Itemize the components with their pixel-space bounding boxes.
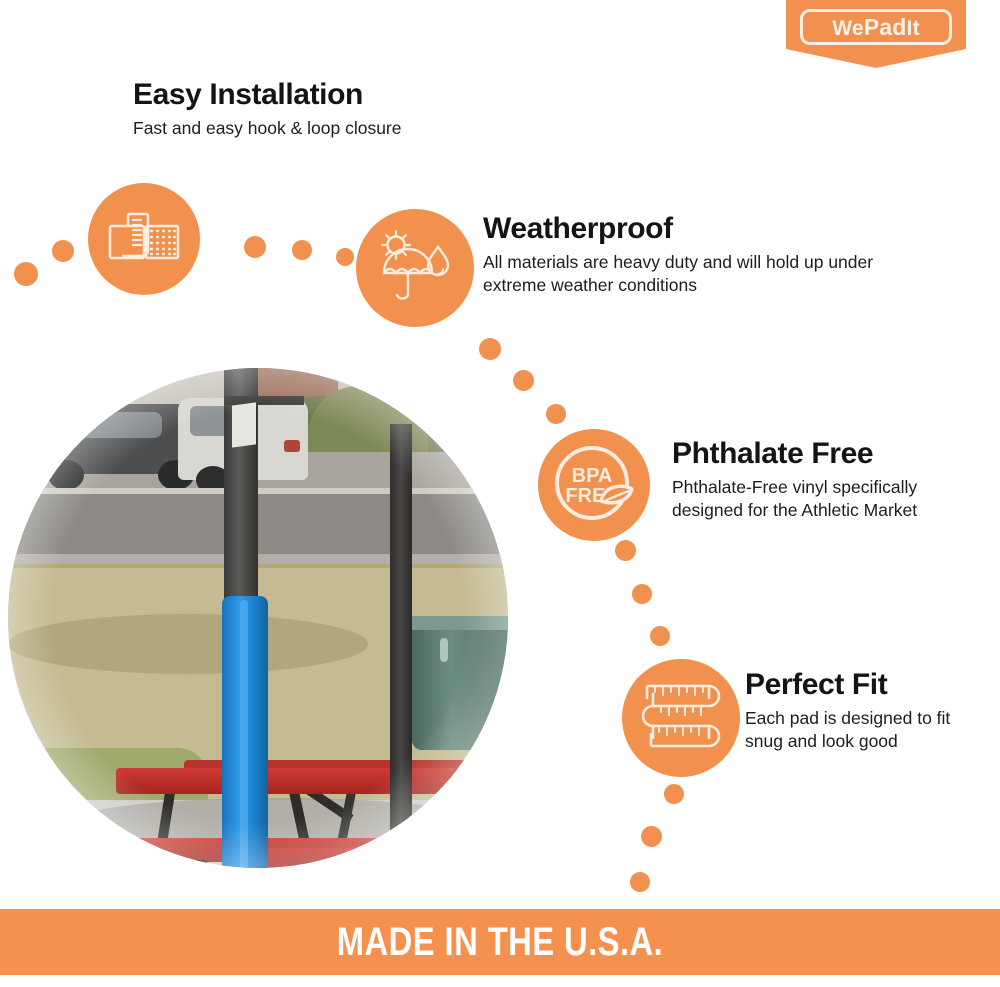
photo-pole-arm	[224, 396, 304, 405]
path-dot	[664, 784, 684, 804]
feature-block-perfect-fit: Perfect Fit Each pad is designed to fit …	[745, 668, 975, 754]
photo-barrel-highlight	[440, 638, 448, 662]
logo-word-pad: Pad	[864, 14, 907, 40]
feature-description: All materials are heavy duty and will ho…	[483, 251, 903, 298]
feature-title: Easy Installation	[133, 78, 402, 111]
photo-pole-secondary	[390, 424, 412, 830]
path-dot	[546, 404, 566, 424]
photo-bench	[258, 848, 508, 868]
photo-trash-barrel	[412, 618, 508, 750]
made-in-usa-banner: MADE IN THE U.S.A.	[0, 909, 1000, 975]
path-dot	[615, 540, 636, 561]
feature-title: Phthalate Free	[672, 437, 962, 470]
path-dot	[650, 626, 670, 646]
hook-and-loop-icon	[88, 183, 200, 295]
bpa-text-line1: BPA	[572, 465, 613, 487]
path-dot	[292, 240, 312, 260]
path-dot	[336, 248, 354, 266]
measuring-tape-icon	[622, 659, 740, 777]
path-dot	[244, 236, 266, 258]
banner-text: MADE IN THE U.S.A.	[337, 922, 663, 962]
logo-word-it: It	[907, 17, 920, 40]
feature-block-easy-installation: Easy Installation Fast and easy hook & l…	[133, 78, 402, 140]
logo-wordmark: WePadIt	[832, 16, 920, 39]
feature-block-phthalate-free: Phthalate Free Phthalate-Free vinyl spec…	[672, 437, 962, 523]
path-dot	[479, 338, 501, 360]
photo-table-foot	[128, 860, 208, 868]
path-dot	[513, 370, 534, 391]
path-dot	[52, 240, 74, 262]
logo-inner-border: WePadIt	[800, 9, 952, 45]
photo-pad-highlight	[240, 600, 248, 868]
feature-title: Perfect Fit	[745, 668, 975, 701]
path-dot	[630, 872, 650, 892]
photo-suv-wheel	[48, 460, 84, 490]
photo-van-taillight	[284, 440, 300, 452]
photo-suv-window	[42, 412, 162, 438]
photo-table-top	[116, 768, 508, 794]
logo-word-we: We	[832, 17, 864, 40]
umbrella-sun-raindrop-icon	[356, 209, 474, 327]
photo-dirt-patch	[8, 614, 368, 674]
product-photo	[8, 368, 508, 868]
feature-description: Fast and easy hook & loop closure	[133, 117, 402, 140]
path-dot	[632, 584, 652, 604]
feature-title: Weatherproof	[483, 212, 903, 245]
feature-block-weatherproof: Weatherproof All materials are heavy dut…	[483, 212, 903, 298]
path-dot	[641, 826, 662, 847]
photo-barrel-rim	[408, 616, 508, 630]
path-dot	[14, 262, 38, 286]
bpa-free-leaf-icon: BPA FREE	[538, 429, 650, 541]
feature-description: Each pad is designed to fit snug and loo…	[745, 707, 975, 754]
infographic-canvas: WePadIt Easy Installation Fast and easy …	[0, 0, 1000, 987]
feature-description: Phthalate-Free vinyl specifically design…	[672, 476, 962, 523]
photo-pole-sign	[232, 402, 256, 447]
brand-logo: WePadIt	[786, 0, 966, 70]
